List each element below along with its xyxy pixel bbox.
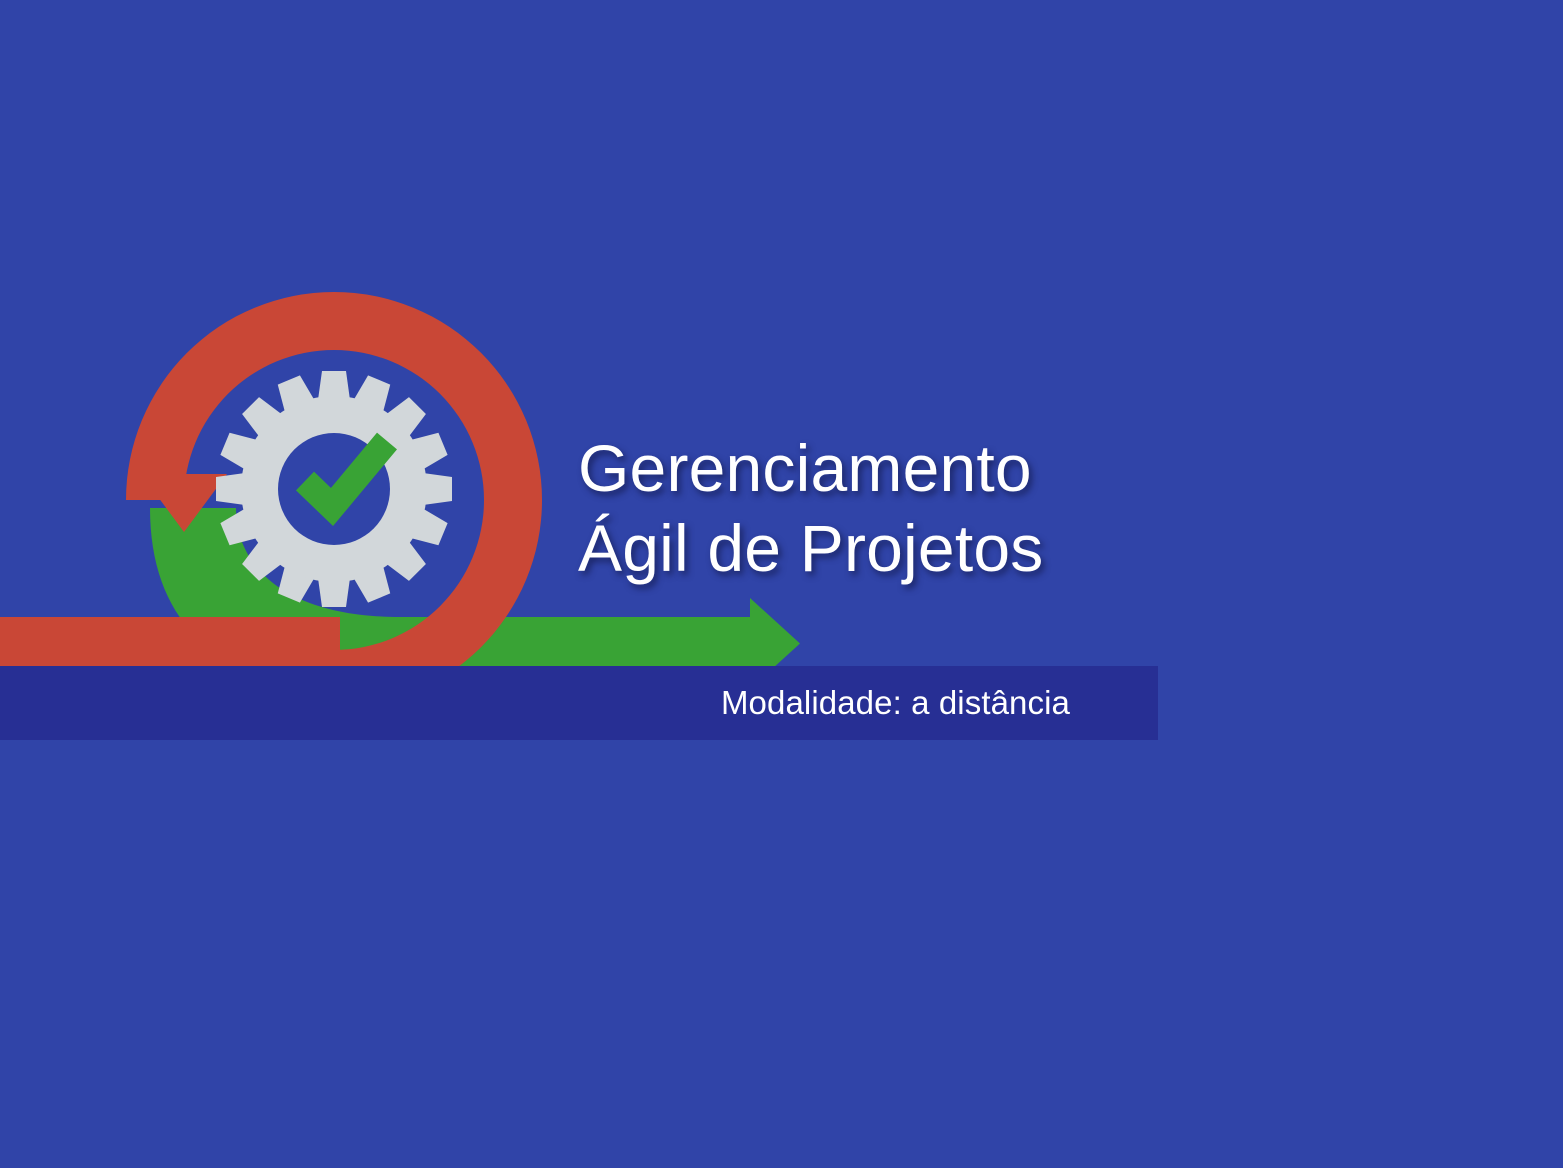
subtitle-text: Modalidade: a distância <box>0 666 1158 740</box>
title-line-2: Ágil de Projetos <box>578 508 1043 588</box>
slide-canvas: Modalidade: a distância Gerenciamento Ág… <box>0 0 1563 1168</box>
page-title: Gerenciamento Ágil de Projetos <box>578 428 1043 588</box>
subtitle-label: Modalidade: a distância <box>721 684 1070 722</box>
title-line-1: Gerenciamento <box>578 428 1043 508</box>
